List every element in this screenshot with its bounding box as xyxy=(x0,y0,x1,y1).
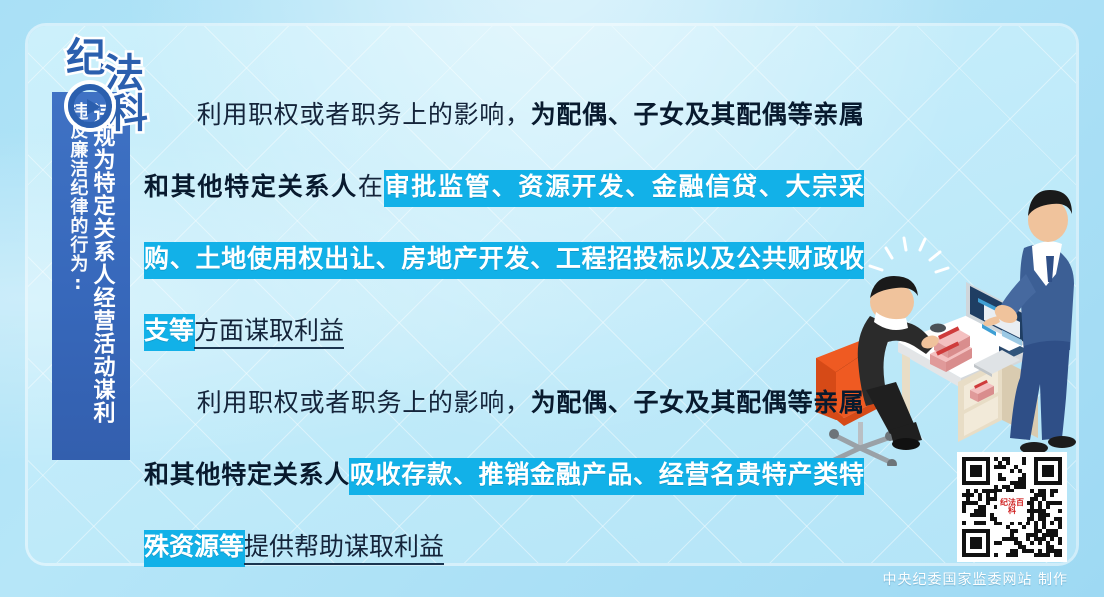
spark-lines-icon xyxy=(870,238,948,272)
qr-center-label: 纪法百科 xyxy=(999,499,1025,515)
p1-plain-lead: 利用职权或者职务上的影响， xyxy=(196,102,531,129)
paragraph-2: 利用职权或者职务上的影响，为配偶、子女及其配偶等亲属和其他特定关系人吸收存款、推… xyxy=(144,368,864,584)
qr-code[interactable]: 纪法百科 xyxy=(957,452,1067,562)
play-circle-icon xyxy=(68,84,112,128)
banner-major-text: 违规为特定关系人经营活动谋利 xyxy=(90,102,113,460)
footer-credit: 中央纪委国家监委网站 制作 xyxy=(883,569,1068,589)
qr-modules: 纪法百科 xyxy=(962,457,1062,557)
poster-root: 纪 法 科 违规为特定关系人经营活动谋利 违反廉洁纪律的行为: 利用职权或者职务… xyxy=(0,0,1104,597)
logo-char-fa: 法 xyxy=(104,54,144,94)
banner-minor-text: 违反廉洁纪律的行为: xyxy=(68,102,87,460)
paragraph-1: 利用职权或者职务上的影响，为配偶、子女及其配偶等亲属和其他特定关系人在审批监管、… xyxy=(144,80,864,368)
p2-underline-benefit: 提供帮助谋取利益 xyxy=(244,534,444,565)
logo-char-ke: 科 xyxy=(108,94,148,134)
article-body: 利用职权或者职务上的影响，为配偶、子女及其配偶等亲属和其他特定关系人在审批监管、… xyxy=(144,80,864,597)
p1-underline-benefit: 方面谋取利益 xyxy=(194,318,344,349)
p2-plain-lead: 利用职权或者职务上的影响， xyxy=(196,390,531,417)
logo-char-ji: 纪 xyxy=(66,38,106,78)
paragraph-3: 情节较轻的，给予警告或者严重警告处分；情节较重的，给予撤销党内职务或者留党察看处… xyxy=(144,584,864,597)
brand-logo: 纪 法 科 xyxy=(56,36,168,136)
qr-center-logo: 纪法百科 xyxy=(997,492,1027,522)
p1-plain-zai: 在 xyxy=(358,174,385,201)
vertical-title-banner: 违规为特定关系人经营活动谋利 违反廉洁纪律的行为: xyxy=(52,92,130,460)
